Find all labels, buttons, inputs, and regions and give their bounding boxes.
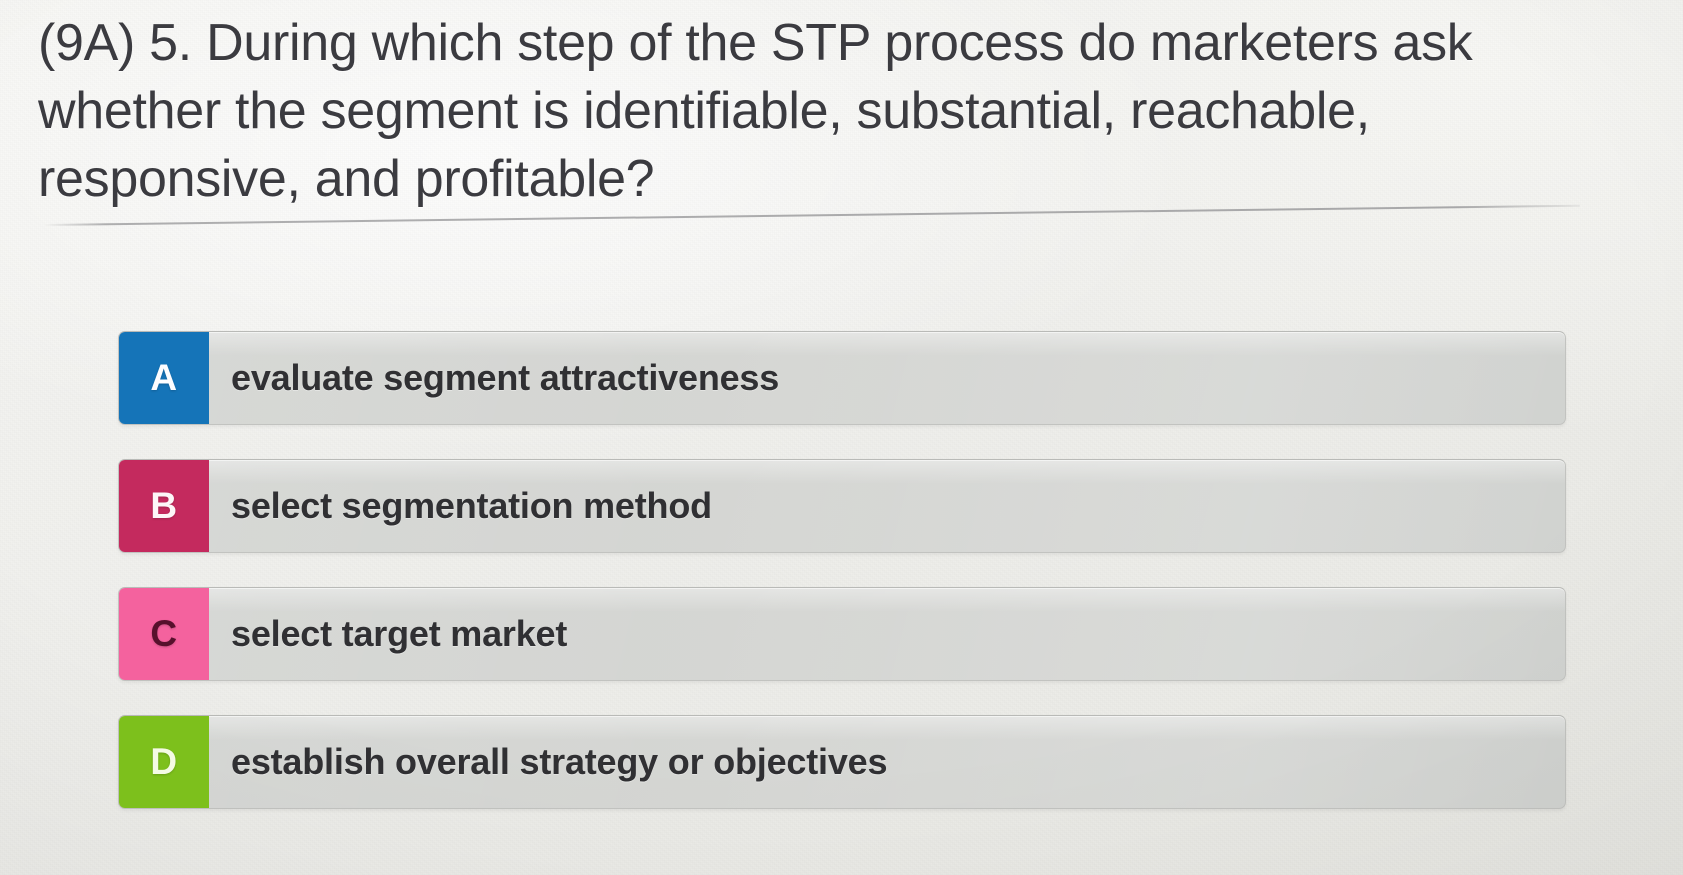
option-letter-badge-d: D [119, 716, 209, 808]
answer-option-a[interactable]: A evaluate segment attractiveness [118, 331, 1566, 425]
option-label-b: select segmentation method [209, 460, 1565, 552]
answer-option-b[interactable]: B select segmentation method [118, 459, 1566, 553]
answer-options-list: A evaluate segment attractiveness B sele… [118, 331, 1566, 809]
option-label-c: select target market [209, 588, 1565, 680]
option-label-d: establish overall strategy or objectives [209, 716, 1565, 808]
option-label-a: evaluate segment attractiveness [209, 332, 1565, 424]
option-letter-badge-b: B [119, 460, 209, 552]
photographed-question-page: (9A) 5. During which step of the STP pro… [0, 0, 1683, 875]
option-letter-badge-a: A [119, 332, 209, 424]
answer-option-d[interactable]: D establish overall strategy or objectiv… [118, 715, 1566, 809]
answer-option-c[interactable]: C select target market [118, 587, 1566, 681]
option-letter-badge-c: C [119, 588, 209, 680]
question-text: (9A) 5. During which step of the STP pro… [38, 9, 1638, 213]
